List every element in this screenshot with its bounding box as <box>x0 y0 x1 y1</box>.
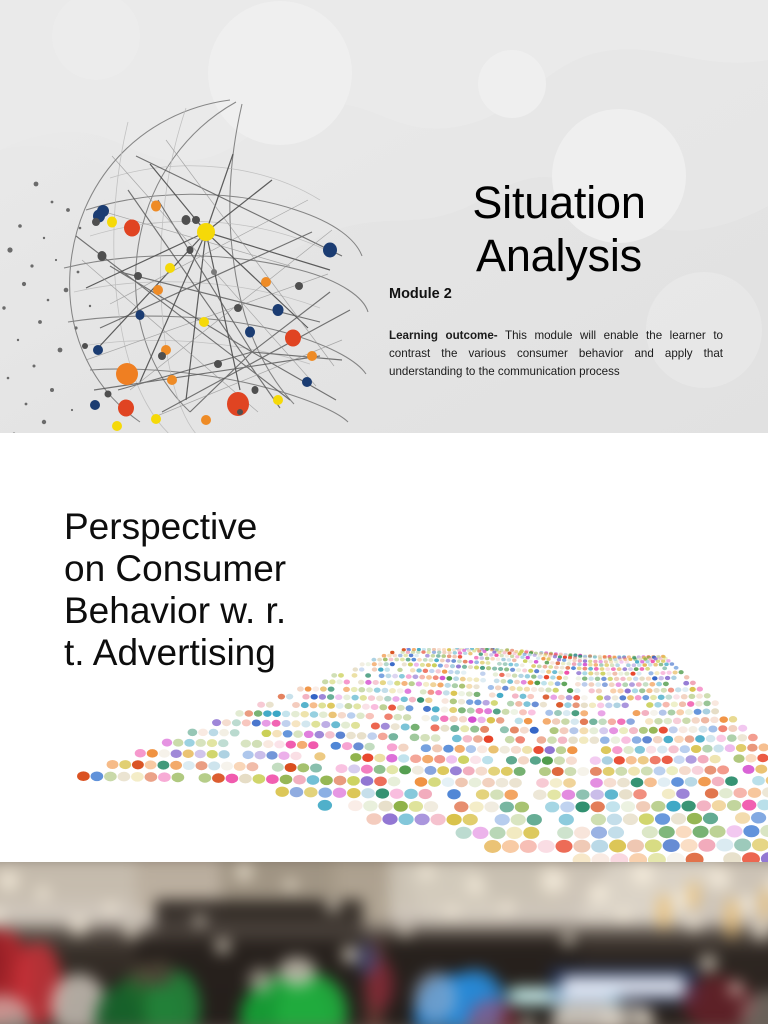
slide-retail-photo <box>0 862 768 1024</box>
slide-perspective-consumer-behavior: Perspective on Consumer Behavior w. r. t… <box>0 433 768 862</box>
perspective-dot-grid-icon <box>0 648 768 862</box>
slide2-title-line2: on Consumer <box>64 548 286 589</box>
learning-outcome-label: Learning outcome- <box>389 329 498 342</box>
module-label: Module 2 <box>389 286 724 302</box>
slide1-title-line2: Analysis <box>476 230 642 281</box>
slide2-title-line3: Behavior w. r. <box>64 590 286 631</box>
learning-outcome-paragraph: Learning outcome- This module will enabl… <box>389 327 723 382</box>
slide1-title: Situation Analysis <box>389 176 729 282</box>
slide1-title-line1: Situation <box>472 177 645 228</box>
blurred-mall-photo <box>0 862 768 1024</box>
presentation-page: Situation Analysis Module 2 Learning out… <box>0 0 768 1024</box>
slide-situation-analysis: Situation Analysis Module 2 Learning out… <box>0 0 768 433</box>
slide2-title-line1: Perspective <box>64 506 257 547</box>
network-sphere-icon <box>0 60 370 433</box>
